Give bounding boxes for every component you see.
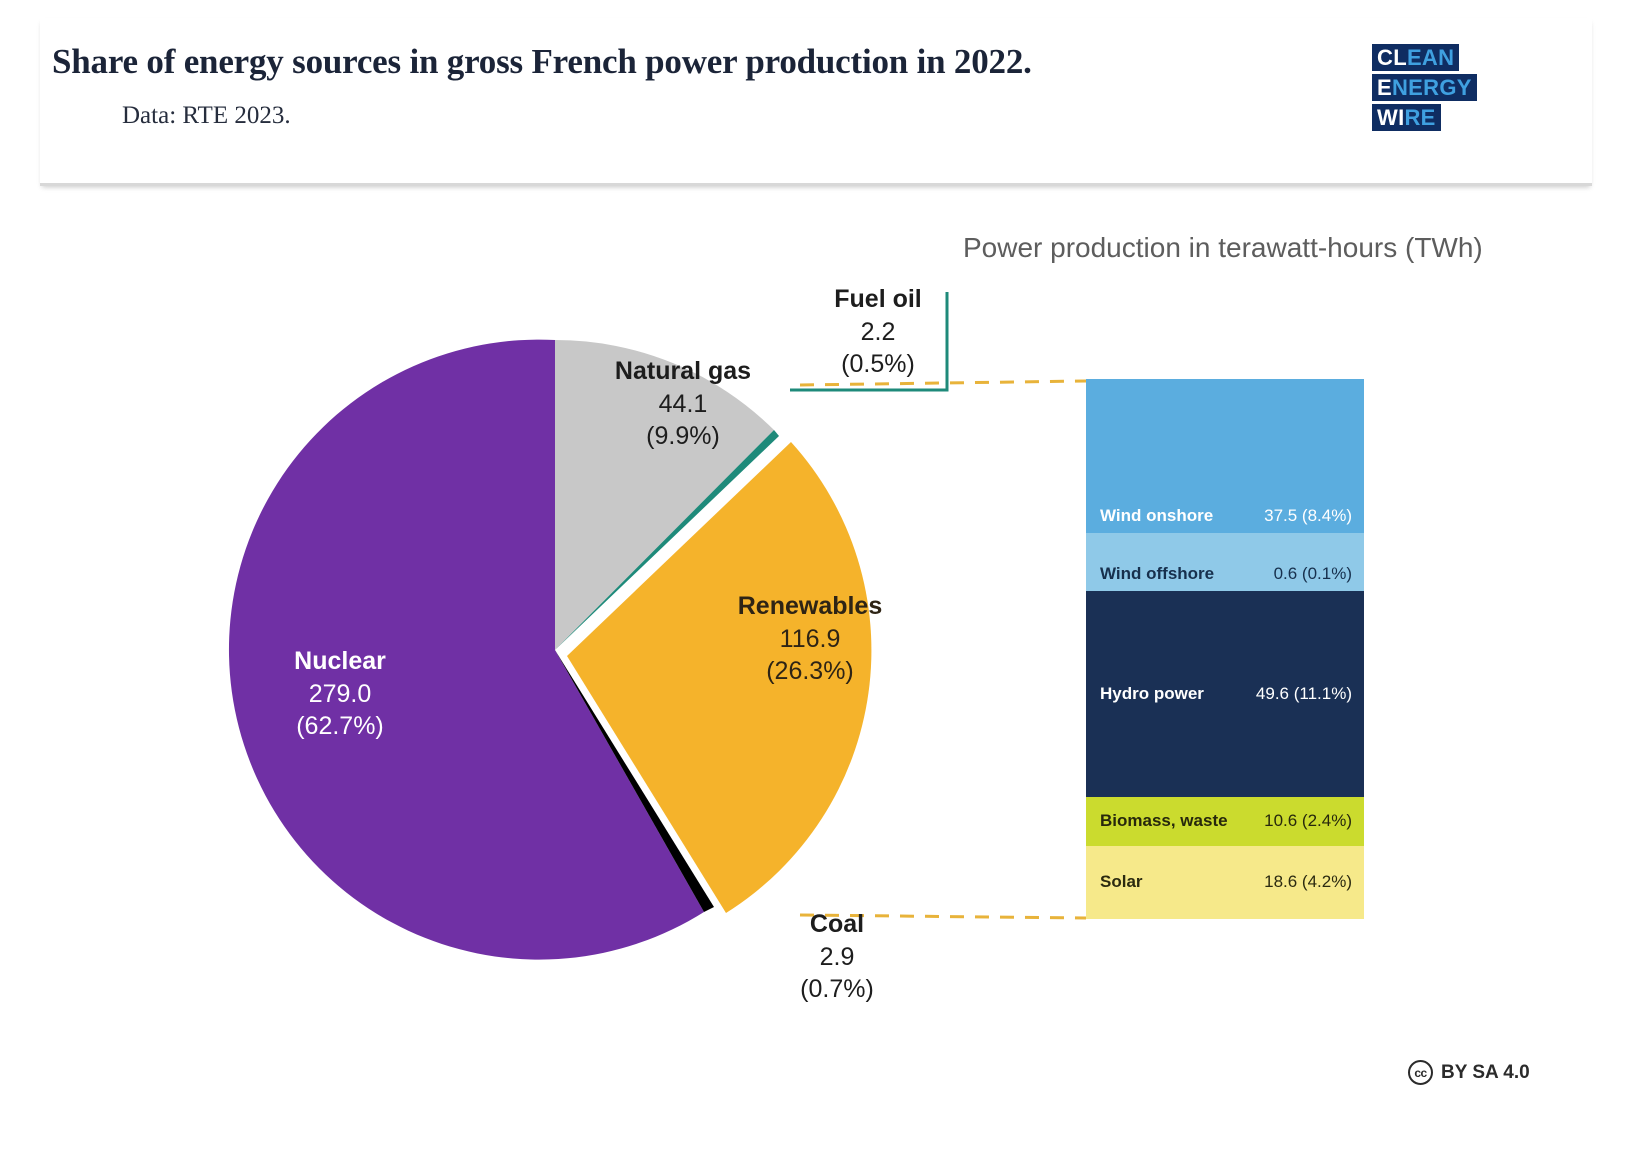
breakdown-label-biomass-waste: Biomass, waste bbox=[1100, 811, 1228, 831]
pie-label-natural-gas-name: Natural gas bbox=[583, 355, 783, 388]
pie-label-fuel-oil: Fuel oil 2.2 (0.5%) bbox=[793, 283, 963, 381]
logo-energy-white: E bbox=[1377, 75, 1392, 100]
pie-label-nuclear-name: Nuclear bbox=[235, 645, 445, 678]
logo-wire-blue: RE bbox=[1404, 105, 1435, 130]
pie-label-renewables-name: Renewables bbox=[700, 590, 920, 623]
breakdown-segment-biomass-waste[interactable]: Biomass, waste 10.6 (2.4%) bbox=[1086, 797, 1364, 845]
breakdown-value-wind-offshore: 0.6 (0.1%) bbox=[1274, 564, 1352, 584]
breakdown-value-biomass-waste: 10.6 (2.4%) bbox=[1264, 811, 1352, 831]
pie-label-fuel-oil-name: Fuel oil bbox=[793, 283, 963, 316]
logo-clean-blue: EAN bbox=[1407, 45, 1454, 70]
renewables-breakdown-bar: Wind onshore 37.5 (8.4%) Wind offshore 0… bbox=[1086, 379, 1364, 919]
unit-caption: Power production in terawatt-hours (TWh) bbox=[963, 232, 1483, 264]
pie-label-nuclear: Nuclear 279.0 (62.7%) bbox=[235, 645, 445, 743]
breakdown-value-solar: 18.6 (4.2%) bbox=[1264, 872, 1352, 892]
pie-label-coal-name: Coal bbox=[752, 908, 922, 941]
pie-label-nuclear-value: 279.0 bbox=[235, 678, 445, 711]
breakdown-segment-hydro-power[interactable]: Hydro power 49.6 (11.1%) bbox=[1086, 591, 1364, 797]
license-text: BY SA 4.0 bbox=[1441, 1062, 1530, 1084]
data-source-subtitle: Data: RTE 2023. bbox=[122, 102, 291, 130]
page-title: Share of energy sources in gross French … bbox=[52, 42, 1032, 82]
logo-line-energy: ENERGY bbox=[1372, 74, 1477, 101]
logo-line-wire: WIRE bbox=[1372, 104, 1441, 131]
breakdown-segment-wind-onshore[interactable]: Wind onshore 37.5 (8.4%) bbox=[1086, 379, 1364, 533]
logo-energy-blue: NERGY bbox=[1392, 75, 1472, 100]
pie-label-coal-percent: (0.7%) bbox=[752, 973, 922, 1006]
creative-commons-footer: cc BY SA 4.0 bbox=[1408, 1060, 1530, 1085]
creative-commons-icon: cc bbox=[1408, 1060, 1433, 1085]
pie-label-coal: Coal 2.9 (0.7%) bbox=[752, 908, 922, 1006]
breakdown-label-hydro-power: Hydro power bbox=[1100, 684, 1204, 704]
clean-energy-wire-logo: CLEAN ENERGY WIRE bbox=[1372, 44, 1490, 131]
pie-label-renewables: Renewables 116.9 (26.3%) bbox=[700, 590, 920, 688]
pie-label-natural-gas: Natural gas 44.1 (9.9%) bbox=[583, 355, 783, 453]
pie-label-coal-value: 2.9 bbox=[752, 941, 922, 974]
infographic-canvas: Share of energy sources in gross French … bbox=[0, 0, 1632, 1150]
logo-line-clean: CLEAN bbox=[1372, 44, 1459, 71]
pie-label-natural-gas-percent: (9.9%) bbox=[583, 420, 783, 453]
pie-label-fuel-oil-value: 2.2 bbox=[793, 316, 963, 349]
logo-clean-white: CL bbox=[1377, 45, 1407, 70]
breakdown-value-wind-onshore: 37.5 (8.4%) bbox=[1264, 506, 1352, 526]
pie-label-natural-gas-value: 44.1 bbox=[583, 388, 783, 421]
breakdown-label-wind-offshore: Wind offshore bbox=[1100, 564, 1214, 584]
pie-label-fuel-oil-percent: (0.5%) bbox=[793, 348, 963, 381]
pie-label-nuclear-percent: (62.7%) bbox=[235, 710, 445, 743]
breakdown-value-hydro-power: 49.6 (11.1%) bbox=[1256, 684, 1352, 704]
breakdown-segment-solar[interactable]: Solar 18.6 (4.2%) bbox=[1086, 846, 1364, 919]
logo-wire-white: WI bbox=[1377, 105, 1404, 130]
breakdown-label-solar: Solar bbox=[1100, 872, 1143, 892]
breakdown-segment-wind-offshore[interactable]: Wind offshore 0.6 (0.1%) bbox=[1086, 533, 1364, 591]
pie-label-renewables-value: 116.9 bbox=[700, 623, 920, 656]
pie-label-renewables-percent: (26.3%) bbox=[700, 655, 920, 688]
breakdown-label-wind-onshore: Wind onshore bbox=[1100, 506, 1213, 526]
